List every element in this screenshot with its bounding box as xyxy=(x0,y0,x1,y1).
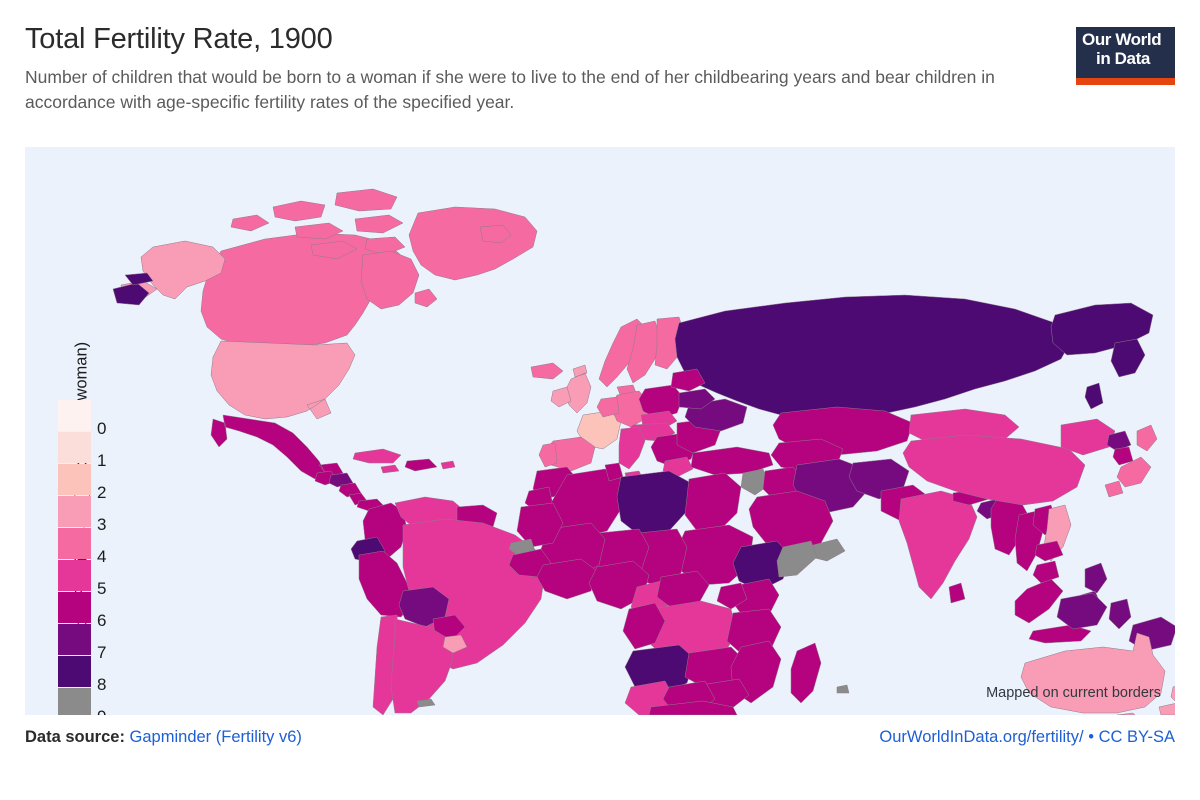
country-indonesia-sulawesi[interactable] xyxy=(1109,599,1131,629)
logo-line-2: in Data xyxy=(1082,49,1170,68)
country-mexico[interactable] xyxy=(211,415,343,479)
country-portugal[interactable] xyxy=(539,443,557,467)
legend-tick-label: 8 xyxy=(97,676,106,693)
country-united-kingdom[interactable] xyxy=(565,365,591,413)
legend-tick-label: 3 xyxy=(97,516,106,533)
our-world-in-data-logo[interactable]: Our World in Data xyxy=(1076,27,1175,87)
data-source-line: Data source: Gapminder (Fertility v6) xyxy=(25,728,302,747)
legend-tick-label: 6 xyxy=(97,612,106,629)
country-china-northeast[interactable] xyxy=(1061,419,1115,455)
legend-swatch[interactable] xyxy=(58,656,91,687)
legend-tick-label: 7 xyxy=(97,644,106,661)
country-ireland[interactable] xyxy=(551,387,571,407)
chart-page: Total Fertility Rate, 1900 Number of chi… xyxy=(0,0,1200,800)
legend-swatch[interactable] xyxy=(58,432,91,463)
country-puerto-rico[interactable] xyxy=(441,461,455,469)
country-cuba[interactable] xyxy=(353,449,401,463)
country-indonesia-sumatra[interactable] xyxy=(1015,579,1063,623)
world-map-panel[interactable]: Total Fertility Rate (Children per woman… xyxy=(25,147,1175,715)
logo-line-1: Our World xyxy=(1082,30,1170,49)
legend-tick-label: 4 xyxy=(97,548,106,565)
country-madagascar[interactable] xyxy=(791,643,821,703)
country-ivory-coast-ghana[interactable] xyxy=(537,559,597,599)
country-malaysia[interactable] xyxy=(1033,561,1059,583)
logo-accent-bar xyxy=(1076,78,1175,85)
legend-swatch[interactable] xyxy=(58,496,91,527)
legend-tick-label: 1 xyxy=(97,452,106,469)
owid-url-link[interactable]: OurWorldInData.org/fertility/ xyxy=(879,728,1083,746)
country-united-states[interactable] xyxy=(211,341,355,419)
country-iceland[interactable] xyxy=(531,363,563,379)
attribution-line: OurWorldInData.org/fertility/ • CC BY-SA xyxy=(879,728,1175,747)
country-sri-lanka[interactable] xyxy=(949,583,965,603)
logo-box: Our World in Data xyxy=(1076,27,1175,78)
page-title: Total Fertility Rate, 1900 xyxy=(25,22,1175,57)
country-egypt[interactable] xyxy=(685,473,741,531)
island-mauritius[interactable] xyxy=(837,685,849,693)
country-tasmania[interactable] xyxy=(1117,713,1135,715)
data-source-label: Data source: xyxy=(25,728,125,746)
country-canada-newfoundland[interactable] xyxy=(415,289,437,307)
legend-swatch[interactable] xyxy=(58,528,91,559)
separator-dot: • xyxy=(1088,728,1094,746)
country-australia[interactable] xyxy=(1021,633,1165,713)
data-source-link[interactable]: Gapminder (Fertility v6) xyxy=(130,728,302,746)
mapped-on-current-borders-note: Mapped on current borders xyxy=(986,685,1161,701)
map-legend: Total Fertility Rate (Children per woman… xyxy=(30,347,190,707)
license-link[interactable]: CC BY-SA xyxy=(1099,728,1175,746)
country-greenland[interactable] xyxy=(409,207,537,280)
country-indonesia-borneo[interactable] xyxy=(1057,593,1107,629)
legend-tick-label: 5 xyxy=(97,580,106,597)
country-india[interactable] xyxy=(899,491,977,599)
legend-tick-label: 9 xyxy=(97,708,106,715)
chart-footer: Data source: Gapminder (Fertility v6) Ou… xyxy=(25,728,1175,758)
country-russia-sakhalin[interactable] xyxy=(1085,383,1103,409)
country-jamaica[interactable] xyxy=(381,465,399,473)
country-italy[interactable] xyxy=(619,427,645,481)
world-choropleth-map[interactable] xyxy=(25,147,1175,715)
legend-tick-label: 0 xyxy=(97,420,106,437)
legend-swatch[interactable] xyxy=(58,624,91,655)
country-haiti-dominican[interactable] xyxy=(405,459,437,471)
legend-swatch[interactable] xyxy=(58,592,91,623)
country-russia[interactable] xyxy=(675,295,1071,419)
legend-swatch[interactable] xyxy=(58,560,91,591)
chart-header: Total Fertility Rate, 1900 Number of chi… xyxy=(25,22,1175,132)
legend-tick-label: 2 xyxy=(97,484,106,501)
legend-swatch[interactable] xyxy=(58,688,91,715)
page-subtitle: Number of children that would be born to… xyxy=(25,65,1055,115)
country-libya[interactable] xyxy=(617,471,691,535)
legend-swatch[interactable] xyxy=(58,400,91,431)
country-russia-kamchatka[interactable] xyxy=(1111,339,1145,377)
legend-swatch[interactable] xyxy=(58,464,91,495)
country-canada-labrador[interactable] xyxy=(361,251,419,309)
